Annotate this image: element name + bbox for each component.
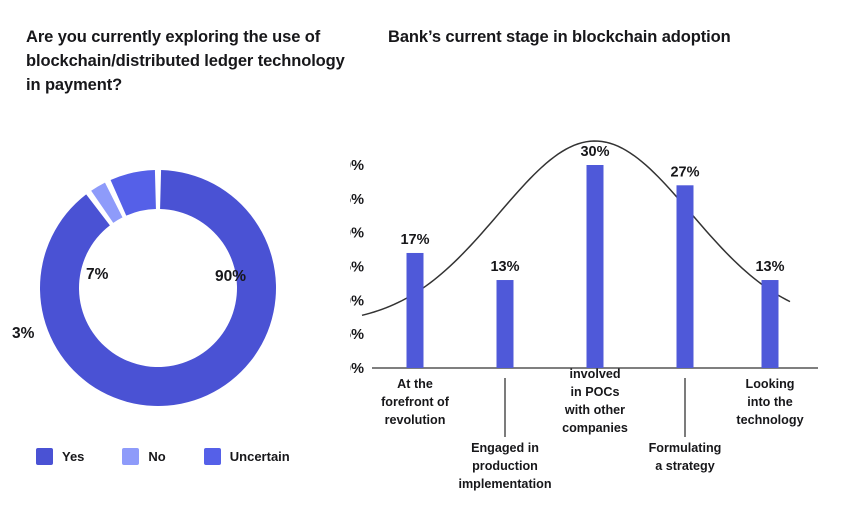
legend-label-no: No — [148, 449, 165, 464]
donut-slice-yes[interactable] — [40, 170, 276, 406]
y-axis-tick-label: 15% — [350, 260, 364, 276]
y-axis-tick-label: 30% — [350, 158, 364, 174]
legend-swatch-uncertain — [204, 448, 221, 465]
bell-curve-overlay — [362, 141, 790, 315]
bar-group — [407, 165, 779, 368]
category-label: implementation — [458, 477, 551, 491]
bar-chart-svg: 0%5%10%15%20%25%30% 17%13%30%27%13% At t… — [350, 120, 850, 515]
category-label: into the — [747, 395, 792, 409]
y-axis-tick-label: 25% — [350, 192, 364, 208]
category-label: technology — [736, 413, 803, 427]
category-label: involved — [569, 367, 620, 381]
bar[interactable] — [762, 280, 779, 368]
bar-value-label: 30% — [580, 144, 609, 160]
category-label: a strategy — [655, 459, 715, 473]
legend-swatch-yes — [36, 448, 53, 465]
y-axis-tick-label: 5% — [350, 327, 364, 343]
donut-value-label-uncertain: 7% — [86, 266, 108, 284]
bar-chart: 0%5%10%15%20%25%30% 17%13%30%27%13% At t… — [350, 120, 850, 515]
category-label: Looking — [746, 377, 795, 391]
y-axis-tick-label: 0% — [350, 361, 364, 377]
legend-label-yes: Yes — [62, 449, 84, 464]
bar-value-label: 17% — [400, 232, 429, 248]
legend-item-yes[interactable]: Yes — [36, 448, 84, 465]
right-chart-title: Bank’s current stage in blockchain adopt… — [388, 26, 838, 50]
donut-value-label-no: 3% — [12, 325, 34, 343]
bar-value-label: 27% — [670, 164, 699, 180]
bar-value-label: 13% — [755, 259, 784, 275]
category-label: Formulating — [649, 441, 722, 455]
legend-label-uncertain: Uncertain — [230, 449, 290, 464]
category-label-group: At theforefront ofrevolutionEngaged inpr… — [381, 367, 804, 491]
legend-swatch-no — [122, 448, 139, 465]
y-axis-tick-label: 10% — [350, 293, 364, 309]
y-axis-tick-group: 0%5%10%15%20%25%30% — [350, 158, 364, 377]
legend-item-no[interactable]: No — [122, 448, 165, 465]
legend-item-uncertain[interactable]: Uncertain — [204, 448, 290, 465]
donut-chart-svg — [0, 120, 340, 460]
bar[interactable] — [677, 185, 694, 368]
category-label: in POCs — [571, 385, 620, 399]
category-label: production — [472, 459, 538, 473]
bar-value-label: 13% — [490, 259, 519, 275]
category-label: At the — [397, 377, 433, 391]
left-chart-title: Are you currently exploring the use of b… — [26, 26, 356, 98]
category-label: with other — [564, 403, 625, 417]
donut-legend: Yes No Uncertain — [36, 448, 328, 465]
category-label: revolution — [385, 413, 446, 427]
y-axis-tick-label: 20% — [350, 226, 364, 242]
donut-chart: 90% 7% 3% — [0, 120, 340, 460]
category-label: Engaged in — [471, 441, 539, 455]
bar[interactable] — [497, 280, 514, 368]
bar[interactable] — [407, 253, 424, 368]
donut-value-label-yes: 90% — [215, 268, 246, 286]
category-label: companies — [562, 421, 628, 435]
category-label: forefront of — [381, 395, 450, 409]
bar[interactable] — [587, 165, 604, 368]
donut-slice-group — [40, 170, 276, 406]
